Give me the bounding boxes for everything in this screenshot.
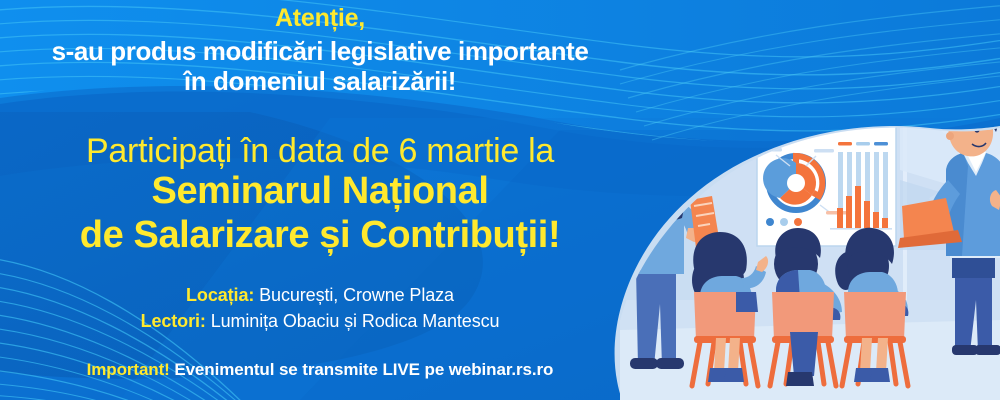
event-title-line-1: Seminarul Național <box>0 172 640 210</box>
chair-3 <box>844 292 906 340</box>
important-label: Important! <box>87 360 170 379</box>
important-notice: Important! Evenimentul se transmite LIVE… <box>0 360 640 380</box>
detail-lectors-label: Lectori: <box>141 311 206 331</box>
headline-kicker: Atenție, <box>0 6 640 32</box>
event-date-line: Participați în data de 6 martie la <box>0 134 640 168</box>
screen-top-bar <box>757 113 896 121</box>
detail-location: Locația: București, Crowne Plaza <box>0 285 640 306</box>
headline-subtitle-line-2: în domeniul salarizării! <box>0 66 640 96</box>
event-title-line-2: de Salarizare și Contribuții! <box>0 216 640 254</box>
detail-location-value: București, Crowne Plaza <box>259 285 454 305</box>
detail-lectors-value: Luminița Obaciu și Rodica Mantescu <box>211 311 500 331</box>
headline-subtitle-line-1: s-au produs modificări legislative impor… <box>0 36 640 66</box>
headline-subtitle: s-au produs modificări legislative impor… <box>0 36 640 97</box>
important-value: Evenimentul se transmite LIVE pe webinar… <box>174 360 553 379</box>
banner-text-column: Atenție, s-au produs modificări legislat… <box>0 0 640 400</box>
detail-lectors: Lectori: Luminița Obaciu și Rodica Mante… <box>0 311 640 332</box>
detail-location-label: Locația: <box>186 285 254 305</box>
seminar-promo-banner: Atenție, s-au produs modificări legislat… <box>0 0 1000 400</box>
